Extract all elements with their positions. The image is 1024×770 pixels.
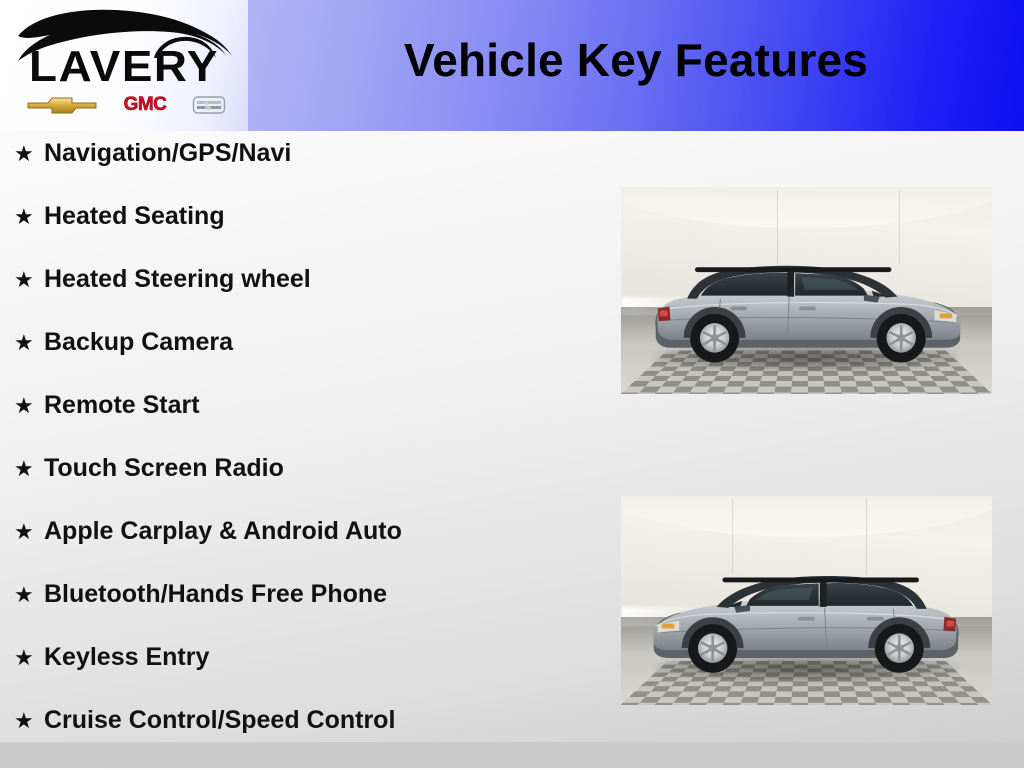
feature-label: Heated Seating [44,203,225,229]
feature-label: Bluetooth/Hands Free Phone [44,581,387,607]
feature-label: Remote Start [44,392,200,418]
vehicle-photo-driver-side [621,496,992,705]
star-bullet-icon: ★ [14,143,44,167]
showroom-scene [621,187,992,394]
star-bullet-icon: ★ [14,395,44,419]
star-bullet-icon: ★ [14,269,44,293]
list-item: ★ Keyless Entry [0,644,600,707]
page-title: Vehicle Key Features [248,0,1024,131]
feature-label: Touch Screen Radio [44,455,284,481]
page-title-text: Vehicle Key Features [404,33,868,87]
feature-label: Navigation/GPS/Navi [44,140,291,166]
feature-label: Backup Camera [44,329,233,355]
brand-logo-row: GMC [26,92,226,118]
list-item: ★ Navigation/GPS/Navi [0,140,600,203]
star-bullet-icon: ★ [14,521,44,545]
vehicle-feature-list: ★ Navigation/GPS/Navi ★ Heated Seating ★… [0,140,600,770]
slide-header: LAVERY GMC [0,0,1024,131]
list-item: ★ Heated Steering wheel [0,266,600,329]
dealer-logo: LAVERY GMC [0,0,248,131]
suv-silhouette-icon [640,550,974,680]
list-item: ★ Bluetooth/Hands Free Phone [0,581,600,644]
gmc-logo: GMC [124,94,167,116]
cadillac-crest-icon [192,94,226,116]
feature-label: Apple Carplay & Android Auto [44,518,402,544]
star-bullet-icon: ★ [14,458,44,482]
vehicle-photo-passenger-side [621,187,992,394]
feature-label: Keyless Entry [44,644,209,670]
star-bullet-icon: ★ [14,332,44,356]
bottom-spacer [0,742,1024,768]
chevrolet-bowtie-icon [26,94,98,116]
showroom-scene [621,496,992,705]
list-item: ★ Remote Start [0,392,600,455]
list-item: ★ Heated Seating [0,203,600,266]
suv-silhouette-icon [640,241,974,369]
star-bullet-icon: ★ [14,647,44,671]
star-bullet-icon: ★ [14,584,44,608]
slide-root: LAVERY GMC [0,0,1024,768]
feature-label: Cruise Control/Speed Control [44,707,395,733]
feature-label: Heated Steering wheel [44,266,311,292]
list-item: ★ Apple Carplay & Android Auto [0,518,600,581]
dealer-logo-wordmark: LAVERY [3,44,244,90]
list-item: ★ Touch Screen Radio [0,455,600,518]
star-bullet-icon: ★ [14,710,44,734]
list-item: ★ Backup Camera [0,329,600,392]
star-bullet-icon: ★ [14,206,44,230]
